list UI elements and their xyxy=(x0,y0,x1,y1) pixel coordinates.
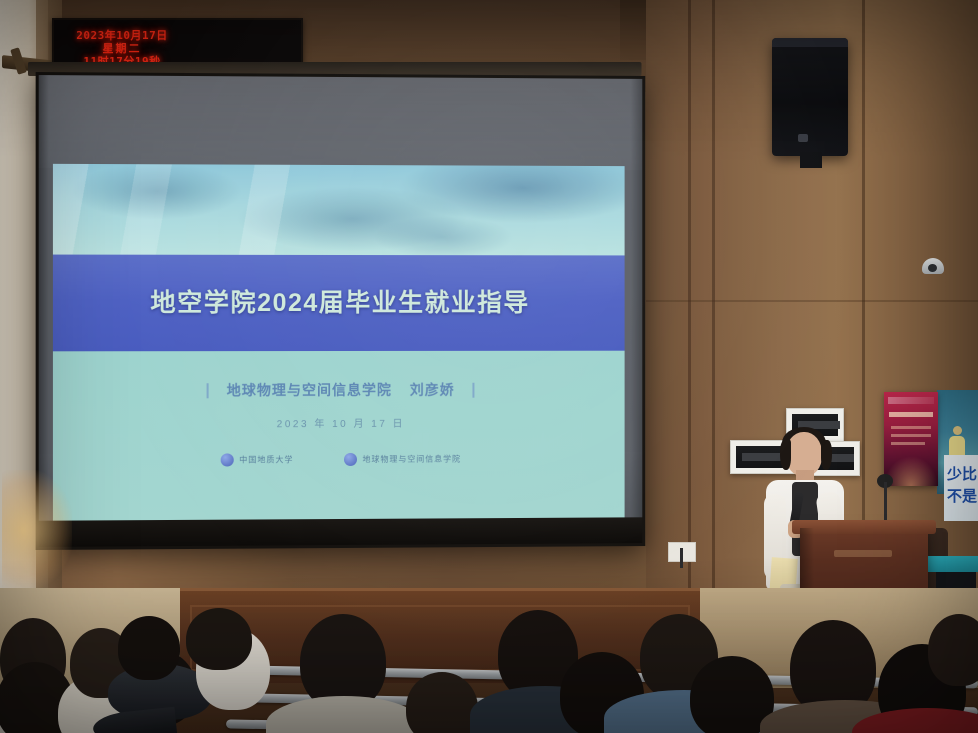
school-logo-label: 地球物理与空间信息学院 xyxy=(362,454,461,465)
slide-date: 2023 年 10 月 17 日 xyxy=(53,414,625,431)
university-logo: 中国地质大学 xyxy=(220,453,293,466)
poster-header-band xyxy=(888,397,934,404)
led-date: 2023年10月17日 xyxy=(76,30,167,42)
speaker-badge xyxy=(798,134,808,142)
presenter-hair-side xyxy=(780,440,791,470)
wall-light-glow xyxy=(2,470,72,590)
school-logo-icon xyxy=(343,453,356,466)
slide-sky-banner-image xyxy=(53,164,625,256)
slide-logo-row: 中国地质大学 地球物理与空间信息学院 xyxy=(53,452,625,467)
white-slogan-poster: 少比 不是 xyxy=(944,455,978,521)
camera-lens xyxy=(928,264,937,272)
red-event-poster xyxy=(884,392,938,486)
screen-right-shading xyxy=(631,79,643,543)
screen-unlit-top xyxy=(39,75,643,170)
projection-screen: 地空学院2024届毕业生就业指导 地球物理与空间信息学院 刘彦娇 2023 年 … xyxy=(36,72,646,550)
speaker-top-cap xyxy=(772,38,848,47)
subtitle-divider-right xyxy=(472,382,474,397)
wall-speaker xyxy=(772,38,848,156)
screen-bottom-bar xyxy=(39,517,643,547)
side-table-top xyxy=(928,556,978,572)
slide-department: 地球物理与空间信息学院 xyxy=(227,380,392,400)
poster-line-1: 少比 xyxy=(947,463,977,484)
lecture-hall-photo: 2023年10月17日 星期二 11时17分19秒 地空学院2024届毕业生就业… xyxy=(0,0,978,733)
slide-title: 地空学院2024届毕业生就业指导 xyxy=(53,283,625,319)
school-logo: 地球物理与空间信息学院 xyxy=(343,453,461,466)
presenter-hair-side xyxy=(821,440,832,470)
ceiling-camera-icon xyxy=(922,258,944,274)
subtitle-divider-left xyxy=(207,383,209,398)
microphone-stand xyxy=(680,548,683,568)
slide-subtitle-row: 地球物理与空间信息学院 刘彦娇 xyxy=(53,379,625,400)
audience-head xyxy=(186,608,252,670)
poster-figure-head xyxy=(953,426,962,435)
wall-seam xyxy=(646,300,978,302)
audience-head xyxy=(118,616,180,680)
university-logo-label: 中国地质大学 xyxy=(239,454,293,465)
audience-head xyxy=(928,614,978,686)
podium-emblem xyxy=(834,550,892,557)
slide-lower-panel xyxy=(53,351,625,523)
wall-seam xyxy=(862,0,865,560)
speaker-mount xyxy=(800,152,822,168)
led-weekday: 星期二 xyxy=(103,43,142,55)
university-logo-icon xyxy=(220,453,233,466)
poster-title-block xyxy=(889,412,933,417)
presentation-slide: 地空学院2024届毕业生就业指导 地球物理与空间信息学院 刘彦娇 2023 年 … xyxy=(53,164,625,523)
poster-line-2: 不是 xyxy=(947,485,977,506)
slide-presenter: 刘彦娇 xyxy=(410,380,455,400)
